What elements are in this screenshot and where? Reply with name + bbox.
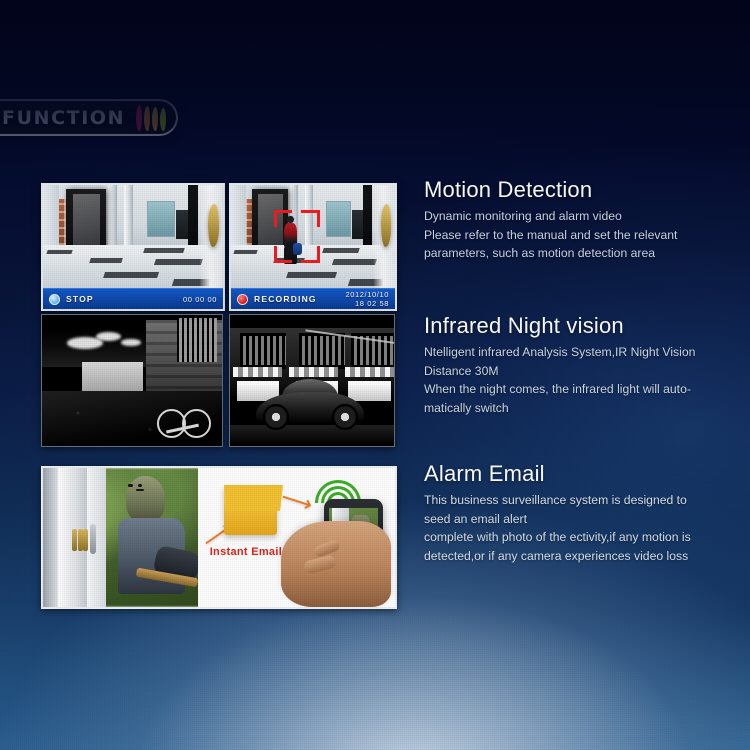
arrow-right-icon: ⟶ (278, 486, 315, 517)
feature-title: Infrared Night vision (424, 314, 744, 337)
camera-panel-stop: STOP 00 00 00 (41, 183, 225, 311)
banner-color-bars (136, 105, 166, 131)
motion-detection-box (274, 210, 320, 264)
hand-holding-phone (281, 521, 391, 607)
burglar-photo (43, 468, 205, 607)
email-alert-illustration: ⟶ ⟶ Instant Email (198, 468, 395, 607)
intruder-figure (114, 476, 198, 607)
function-banner: FUNCTION (0, 99, 178, 136)
feature-motion-detection: Motion Detection Dynamic monitoring and … (424, 178, 744, 263)
color-bar-magenta-icon (136, 105, 142, 131)
camera-timecode: 00 00 00 (183, 295, 217, 304)
camera-scene-lobby (43, 185, 223, 288)
camera-status-label: RECORDING (254, 294, 317, 304)
function-banner-label: FUNCTION (2, 107, 125, 129)
camera-panel-recording: RECORDING 2012/10/10 18 02 58 (229, 183, 397, 311)
night-vision-image-car (229, 314, 395, 447)
color-bar-orange-icon (144, 106, 150, 131)
feature-infrared-night-vision: Infrared Night vision Ntelligent infrare… (424, 314, 744, 417)
feature-line: seed an email alert (424, 510, 744, 529)
feature-line: complete with photo of the ectivity,if a… (424, 528, 744, 547)
feature-alarm-email: Alarm Email This business surveillance s… (424, 462, 744, 565)
feature-title: Motion Detection (424, 178, 744, 201)
top-dark-veil (0, 0, 750, 170)
instant-email-caption: Instant Email (210, 546, 282, 558)
feature-title: Alarm Email (424, 462, 744, 485)
feature-line: detected,or if any camera experiences vi… (424, 547, 744, 566)
feature-line: Dynamic monitoring and alarm video (424, 207, 744, 226)
camera-status-label: STOP (66, 294, 94, 304)
alarm-email-image: ⟶ ⟶ Instant Email (41, 466, 397, 609)
feature-line: This business surveillance system is des… (424, 491, 744, 510)
stop-dot-icon (49, 294, 60, 305)
bicycle-shape (157, 399, 211, 438)
camera-date: 2012/10/10 (345, 290, 389, 299)
keys-icon (72, 529, 88, 551)
camera-time: 18 02 58 (355, 299, 389, 308)
camera-scene-lobby-intruder (231, 185, 395, 288)
camera-status-bar-recording: RECORDING 2012/10/10 18 02 58 (231, 288, 395, 309)
feature-line: Please refer to the manual and set the r… (424, 226, 744, 245)
page-root: FUNCTION (0, 0, 750, 750)
car-shape (256, 375, 364, 430)
camera-status-bar-stop: STOP 00 00 00 (43, 288, 223, 309)
feature-line: parameters, such as motion detection are… (424, 244, 744, 263)
feature-line: Ntelligent infrared Analysis System,IR N… (424, 343, 744, 362)
envelope-icon (224, 485, 277, 535)
night-vision-image-street (41, 314, 223, 447)
feature-line: matically switch (424, 399, 744, 418)
feature-line: When the night comes, the infrared light… (424, 380, 744, 399)
camera-datetime: 2012/10/10 18 02 58 (345, 290, 389, 308)
color-bar-green-icon (160, 108, 166, 131)
feature-line: Distance 30M (424, 362, 744, 381)
color-bar-yellow-icon (152, 107, 158, 131)
record-dot-icon (237, 294, 248, 305)
